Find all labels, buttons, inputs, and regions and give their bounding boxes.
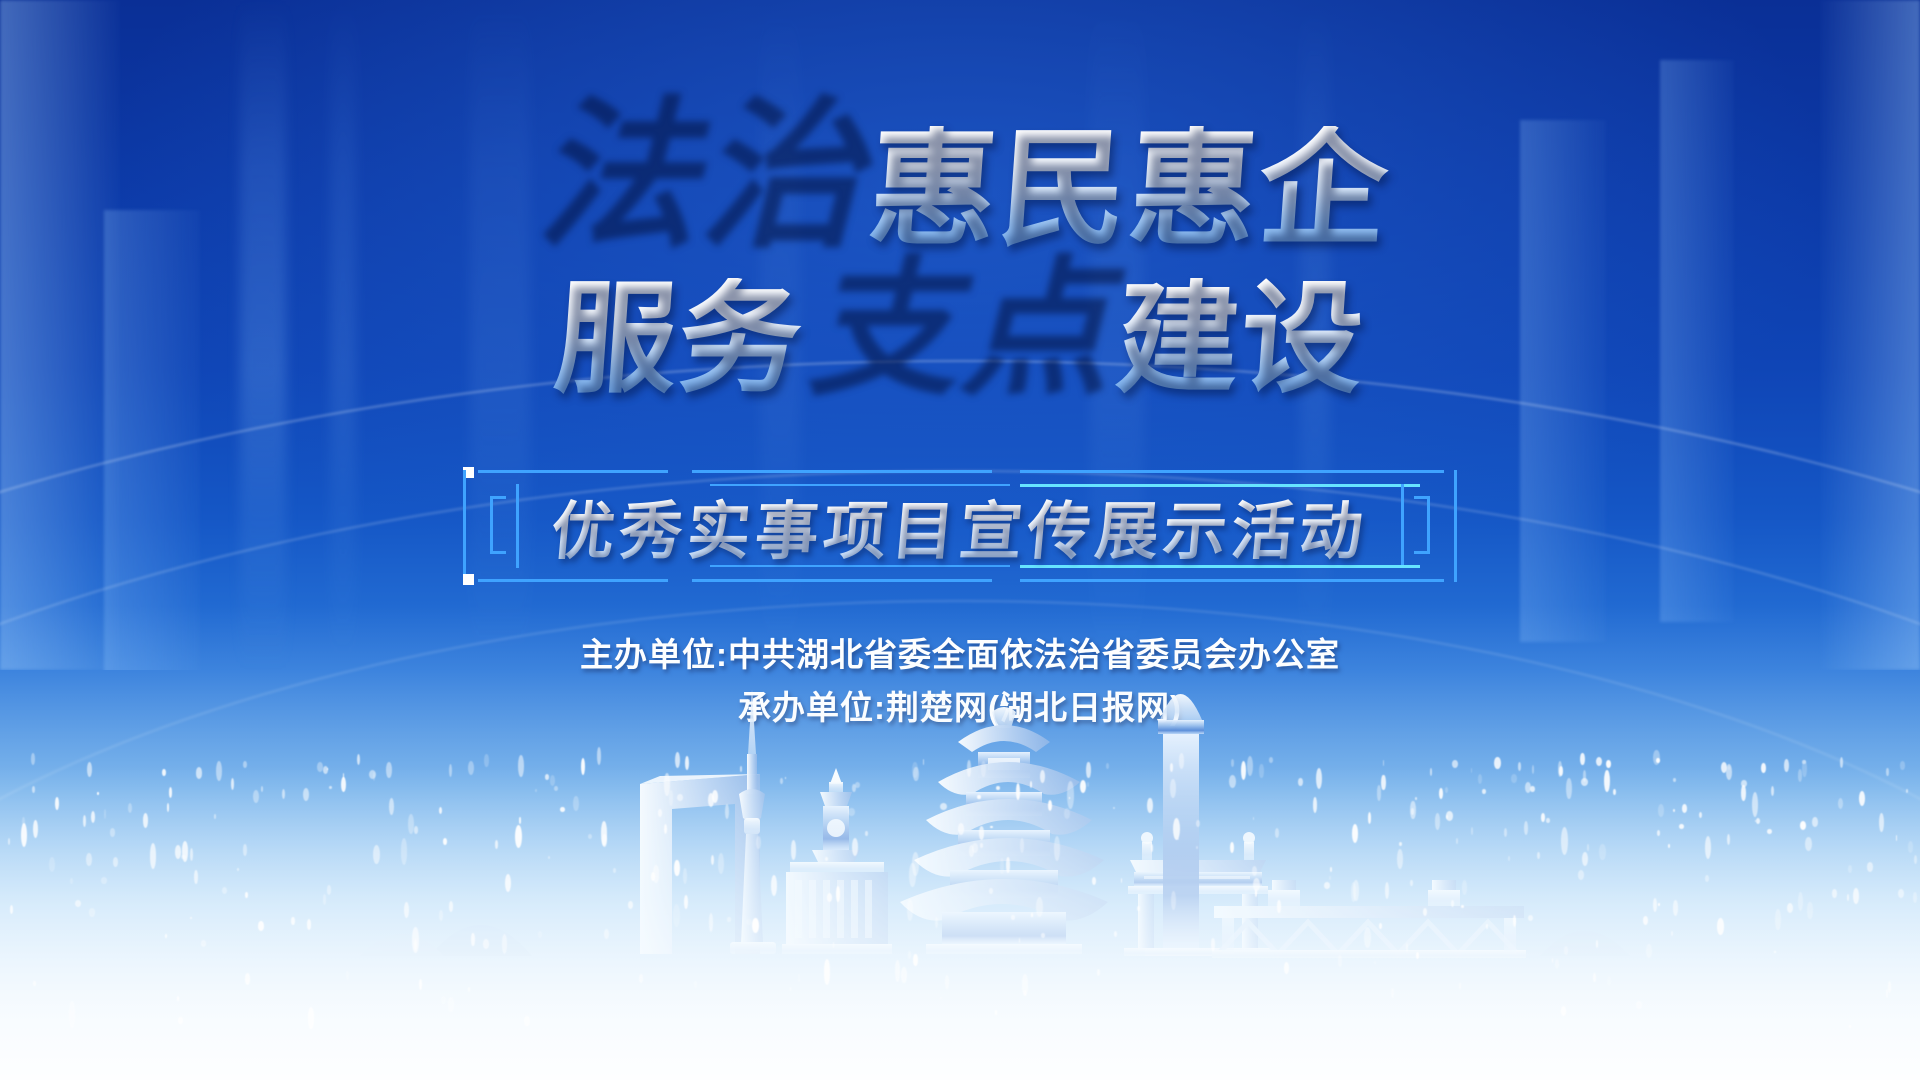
poster-title: 法治 惠民惠企 服务 支点 建设 [0,92,1920,400]
subtitle-banner: 优秀实事项目宣传展示活动 [460,470,1460,582]
organizer-block: 主办单位:中共湖北省委全面依法治省委员会办公室 承办单位:荆楚网(湖北日报网) [410,628,1510,735]
title-row-1: 法治 惠民惠企 [0,92,1920,254]
title-gold-fazhi: 法治 [531,92,869,254]
title-silver-huiminhuiqi: 惠民惠企 [865,126,1394,254]
poster-canvas: 法治 惠民惠企 服务 支点 建设 [0,0,1920,1080]
title-silver-jianshe: 建设 [1113,278,1370,400]
organizer-partner-line: 承办单位:荆楚网(湖北日报网) [410,681,1510,734]
subtitle-text: 优秀实事项目宣传展示活动 [455,470,1465,582]
title-row-2: 服务 支点 建设 [0,250,1920,400]
title-silver-fuwu: 服务 [551,278,808,400]
organizer-host-line: 主办单位:中共湖北省委全面依法治省委员会办公室 [410,628,1510,681]
title-gold-zhidian: 支点 [803,250,1117,400]
